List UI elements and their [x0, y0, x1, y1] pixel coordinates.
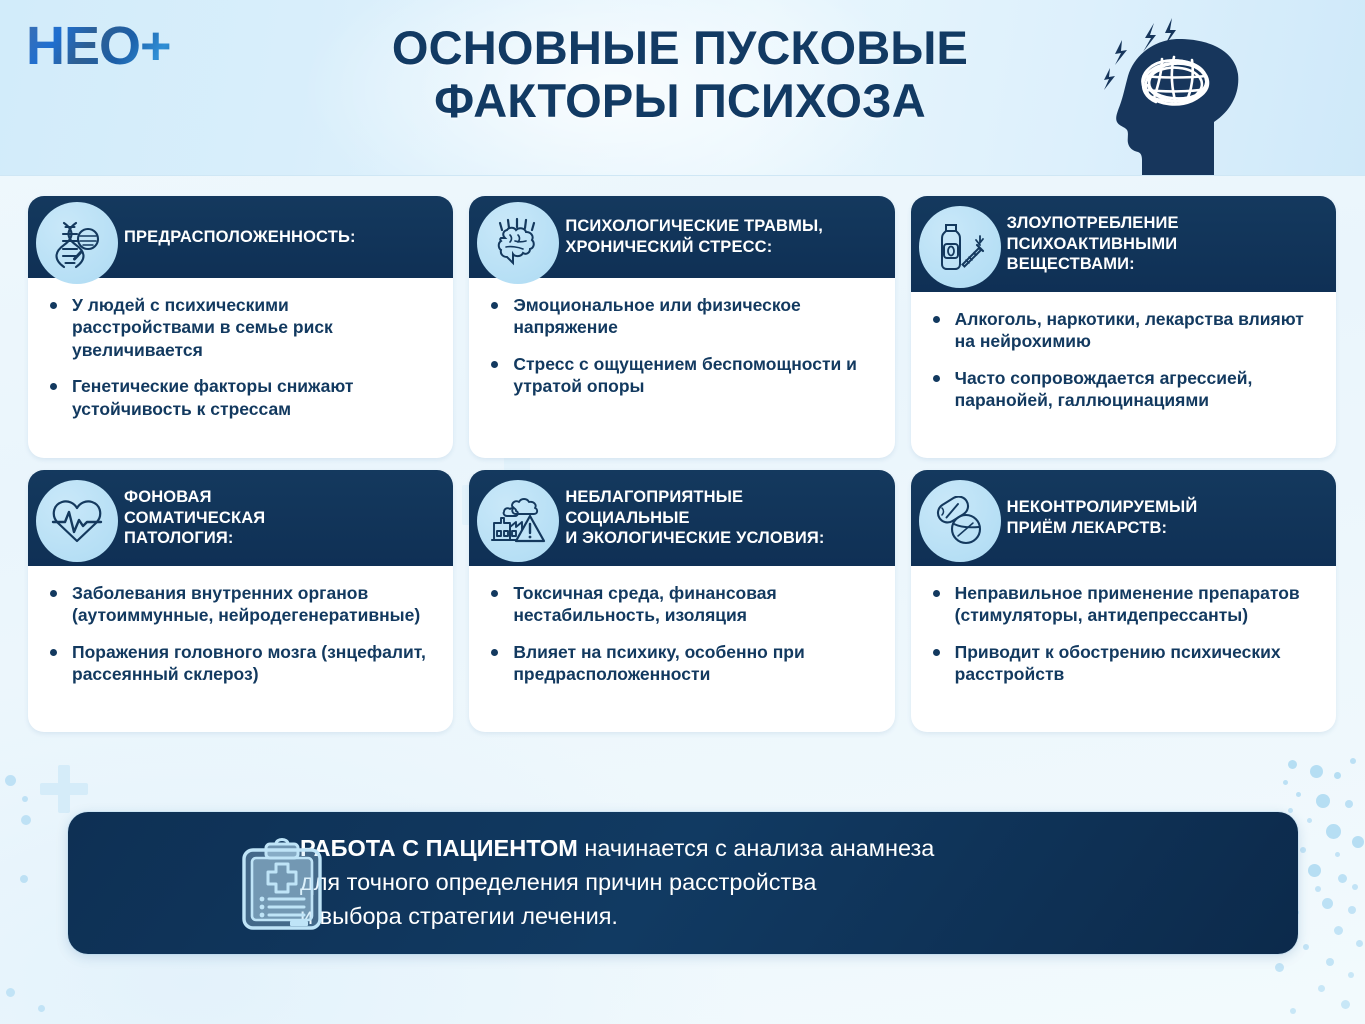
bullet-marker: [933, 375, 940, 382]
list-item-text: Поражения головного мозга (знцефалит, ра…: [72, 642, 426, 684]
card-title: ПРЕДРАСПОЛОЖЕННОСТЬ:: [124, 227, 356, 248]
page-title-line-1: ОСНОВНЫЕ ПУСКОВЫЕ: [300, 22, 1060, 75]
card-body: Алкоголь, наркотики, лекарства влияют на…: [911, 292, 1336, 430]
dot: [1334, 926, 1343, 935]
footer-line-3: и выбора стратегии лечения.: [300, 900, 934, 934]
factor-cards-grid: ПРЕДРАСПОЛОЖЕННОСТЬ: У людей с психическ…: [28, 196, 1336, 732]
footer-line-2: для точного определения причин расстройс…: [300, 866, 934, 900]
dot: [5, 775, 16, 786]
dot: [1326, 958, 1334, 966]
dot: [1352, 884, 1358, 890]
list-item-text: Генетические факторы снижают устойчивост…: [72, 376, 354, 418]
dot: [1275, 963, 1284, 972]
dot: [1326, 824, 1341, 839]
card-psychological-trauma: ПСИХОЛОГИЧЕСКИЕ ТРАВМЫ, ХРОНИЧЕСКИЙ СТРЕ…: [469, 196, 894, 458]
bullet-marker: [491, 649, 498, 656]
list-item-text: Влияет на психику, особенно при предрасп…: [513, 642, 804, 684]
bullet-list: Алкоголь, наркотики, лекарства влияют на…: [929, 308, 1318, 412]
bullet-marker: [50, 383, 57, 390]
clipboard-medical-icon: [238, 838, 326, 932]
list-item: Неправильное применение препаратов (стим…: [929, 582, 1318, 627]
card-header: НЕБЛАГОПРИЯТНЫЕ СОЦИАЛЬНЫЕ И ЭКОЛОГИЧЕСК…: [469, 470, 894, 566]
list-item-text: У людей с психическими расстройствами в …: [72, 295, 333, 360]
dot: [1308, 864, 1321, 877]
dot: [1348, 972, 1354, 978]
card-title: НЕБЛАГОПРИЯТНЫЕ СОЦИАЛЬНЫЕ И ЭКОЛОГИЧЕСК…: [565, 487, 824, 549]
card-body: Эмоциональное или физическое напряжение …: [469, 278, 894, 416]
list-item-text: Эмоциональное или физическое напряжение: [513, 295, 800, 337]
bottle-syringe-icon: [919, 206, 1001, 288]
card-title: НЕКОНТРОЛИРУЕМЫЙ ПРИЁМ ЛЕКАРСТВ:: [1007, 497, 1198, 539]
cross-watermark-4: [40, 765, 88, 813]
card-header: ПРЕДРАСПОЛОЖЕННОСТЬ:: [28, 196, 453, 278]
list-item: Токсичная среда, финансовая нестабильнос…: [487, 582, 876, 627]
card-uncontrolled-medication: НЕКОНТРОЛИРУЕМЫЙ ПРИЁМ ЛЕКАРСТВ: Неправи…: [911, 470, 1336, 732]
dot: [1335, 852, 1340, 857]
bullet-marker: [50, 649, 57, 656]
bullet-list: Токсичная среда, финансовая нестабильнос…: [487, 582, 876, 686]
card-body: У людей с психическими расстройствами в …: [28, 278, 453, 438]
dot: [38, 1005, 45, 1012]
dot: [6, 988, 15, 997]
dot: [1310, 765, 1323, 778]
list-item-text: Алкоголь, наркотики, лекарства влияют на…: [955, 309, 1304, 351]
stressed-brain-icon: [477, 202, 559, 284]
dot: [1296, 792, 1301, 797]
card-body: Неправильное применение препаратов (стим…: [911, 566, 1336, 704]
list-item-text: Стресс с ощущением беспомощности и утрат…: [513, 354, 857, 396]
dot: [1290, 1008, 1296, 1014]
page-title: ОСНОВНЫЕ ПУСКОВЫЕ ФАКТОРЫ ПСИХОЗА: [300, 22, 1060, 127]
bullet-marker: [933, 590, 940, 597]
list-item: Алкоголь, наркотики, лекарства влияют на…: [929, 308, 1318, 353]
infographic-poster: НЕО+ ОСНОВНЫЕ ПУСКОВЫЕ ФАКТОРЫ ПСИХОЗА: [0, 0, 1365, 1024]
list-item: Влияет на психику, особенно при предрасп…: [487, 641, 876, 686]
card-body: Токсичная среда, финансовая нестабильнос…: [469, 566, 894, 704]
dot: [1318, 985, 1325, 992]
list-item: Часто сопровождается агрессией, паранойе…: [929, 367, 1318, 412]
list-item-text: Токсичная среда, финансовая нестабильнос…: [513, 583, 776, 625]
card-substance-abuse: ЗЛОУПОТРЕБЛЕНИЕ ПСИХОАКТИВНЫМИ ВЕЩЕСТВАМ…: [911, 196, 1336, 458]
dot: [1341, 1000, 1350, 1009]
footer-lead: РАБОТА С ПАЦИЕНТОМ: [300, 835, 578, 861]
dot: [1352, 836, 1364, 848]
dot: [21, 815, 31, 825]
card-title: ФОНОВАЯ СОМАТИЧЕСКАЯ ПАТОЛОГИЯ:: [124, 487, 265, 549]
bullet-marker: [933, 316, 940, 323]
card-body: Заболевания внутренних органов (аутоимму…: [28, 566, 453, 704]
dot: [1300, 847, 1306, 853]
brand-logo-text: НЕО+: [26, 18, 226, 74]
dot: [1334, 772, 1341, 779]
list-item: Поражения головного мозга (знцефалит, ра…: [46, 641, 435, 686]
dot: [1338, 874, 1347, 883]
page-title-line-2: ФАКТОРЫ ПСИХОЗА: [300, 75, 1060, 128]
list-item-text: Неправильное применение препаратов (стим…: [955, 583, 1300, 625]
poster-header: НЕО+ ОСНОВНЫЕ ПУСКОВЫЕ ФАКТОРЫ ПСИХОЗА: [0, 0, 1365, 176]
dot: [1356, 940, 1363, 947]
dot: [1316, 794, 1330, 808]
list-item: Генетические факторы снижают устойчивост…: [46, 375, 435, 420]
card-title: ПСИХОЛОГИЧЕСКИЕ ТРАВМЫ, ХРОНИЧЕСКИЙ СТРЕ…: [565, 216, 823, 258]
factory-warning-icon: [477, 480, 559, 562]
list-item-text: Приводит к обострению психических расстр…: [955, 642, 1281, 684]
bullet-marker: [933, 649, 940, 656]
dot: [1307, 818, 1312, 823]
card-header: НЕКОНТРОЛИРУЕМЫЙ ПРИЁМ ЛЕКАРСТВ:: [911, 470, 1336, 566]
dot: [1348, 906, 1356, 914]
bullet-list: У людей с психическими расстройствами в …: [46, 294, 435, 420]
card-somatic-pathology: ФОНОВАЯ СОМАТИЧЕСКАЯ ПАТОЛОГИЯ: Заболева…: [28, 470, 453, 732]
dna-magnifier-icon: [36, 202, 118, 284]
list-item: Приводит к обострению психических расстр…: [929, 641, 1318, 686]
list-item: Эмоциональное или физическое напряжение: [487, 294, 876, 339]
head-with-tangled-thoughts-illustration: [1096, 2, 1266, 176]
list-item: У людей с психическими расстройствами в …: [46, 294, 435, 361]
list-item-text: Часто сопровождается агрессией, паранойе…: [955, 368, 1253, 410]
dot: [1288, 760, 1297, 769]
footer-banner: РАБОТА С ПАЦИЕНТОМ начинается с анализа …: [68, 812, 1298, 954]
brand-logo: НЕО+: [26, 18, 226, 74]
dot: [20, 875, 28, 883]
dot: [1315, 886, 1321, 892]
bullet-marker: [50, 590, 57, 597]
card-title: ЗЛОУПОТРЕБЛЕНИЕ ПСИХОАКТИВНЫМИ ВЕЩЕСТВАМ…: [1007, 213, 1179, 275]
bullet-list: Эмоциональное или физическое напряжение …: [487, 294, 876, 398]
heart-pulse-icon: [36, 480, 118, 562]
list-item-text: Заболевания внутренних органов (аутоимму…: [72, 583, 420, 625]
list-item: Стресс с ощущением беспомощности и утрат…: [487, 353, 876, 398]
footer-line-1-rest: начинается с анализа анамнеза: [578, 835, 935, 861]
dot: [1345, 800, 1353, 808]
list-item: Заболевания внутренних органов (аутоимму…: [46, 582, 435, 627]
dot: [1322, 898, 1333, 909]
bullet-marker: [491, 361, 498, 368]
bullet-marker: [50, 302, 57, 309]
bullet-list: Неправильное применение препаратов (стим…: [929, 582, 1318, 686]
dot: [1288, 808, 1293, 813]
bullet-list: Заболевания внутренних органов (аутоимму…: [46, 582, 435, 686]
pills-icon: [919, 480, 1001, 562]
card-header: ФОНОВАЯ СОМАТИЧЕСКАЯ ПАТОЛОГИЯ:: [28, 470, 453, 566]
card-predisposition: ПРЕДРАСПОЛОЖЕННОСТЬ: У людей с психическ…: [28, 196, 453, 458]
dot: [22, 796, 28, 802]
dot: [1303, 944, 1309, 950]
bullet-marker: [491, 302, 498, 309]
dot: [1350, 758, 1356, 764]
card-header: ПСИХОЛОГИЧЕСКИЕ ТРАВМЫ, ХРОНИЧЕСКИЙ СТРЕ…: [469, 196, 894, 278]
bullet-marker: [491, 590, 498, 597]
card-header: ЗЛОУПОТРЕБЛЕНИЕ ПСИХОАКТИВНЫМИ ВЕЩЕСТВАМ…: [911, 196, 1336, 292]
card-social-ecological-conditions: НЕБЛАГОПРИЯТНЫЕ СОЦИАЛЬНЫЕ И ЭКОЛОГИЧЕСК…: [469, 470, 894, 732]
dot: [1283, 780, 1288, 785]
footer-line-1: РАБОТА С ПАЦИЕНТОМ начинается с анализа …: [300, 832, 934, 866]
